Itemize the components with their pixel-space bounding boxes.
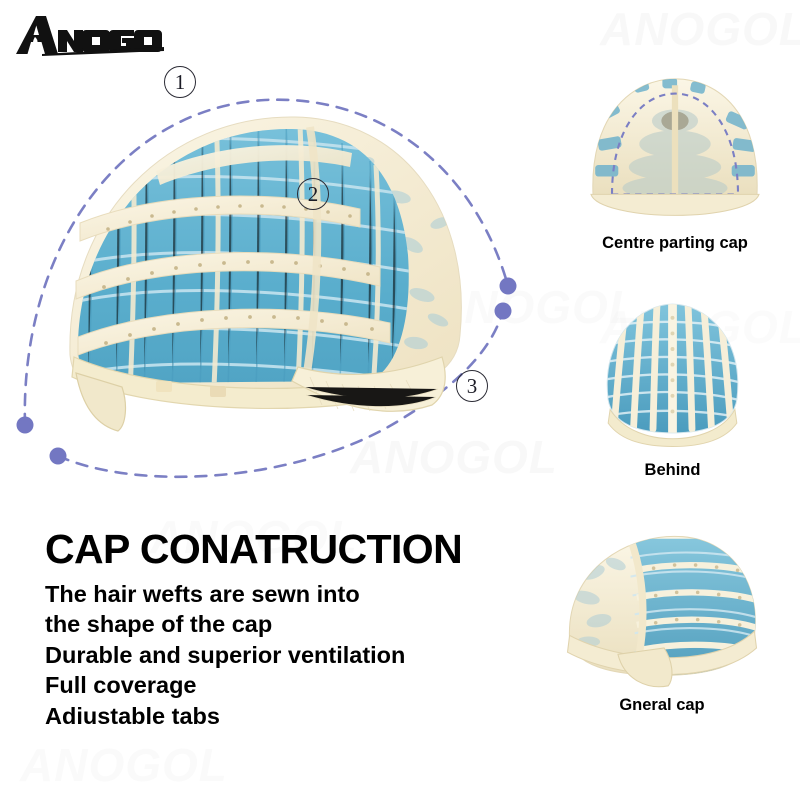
thumb-behind-cap-caption: Behind xyxy=(575,461,770,480)
cap-illustration-centre xyxy=(560,60,790,228)
feature-list: The hair wefts are sewn intothe shape of… xyxy=(45,579,515,732)
watermark-text: ANOGOL xyxy=(20,738,228,792)
arc-endpoint-dot-upper-right xyxy=(500,278,517,295)
thumb-general-cap-image xyxy=(548,522,776,695)
main-cap-image xyxy=(60,105,480,435)
callout-number-2: 2 xyxy=(297,178,329,210)
thumb-centre-parting-cap: Centre parting cap xyxy=(560,60,790,260)
anogol-logo xyxy=(12,14,164,56)
watermark-text: ANOGOL xyxy=(350,430,558,484)
feature-list-item: Adiustable tabs xyxy=(45,701,515,732)
thumb-general-cap: Gneral cap xyxy=(548,522,776,722)
arc-endpoint-dot-upper-left xyxy=(17,417,34,434)
feature-list-item: The hair wefts are sewn into xyxy=(45,579,515,610)
callout-number-3: 3 xyxy=(456,370,488,402)
feature-list-item: Full coverage xyxy=(45,670,515,701)
thumb-behind-cap: Behind xyxy=(575,282,770,487)
infographic-page: ANOGOLANOGOLANOGOLANOGOLANOGOLANOGOL xyxy=(0,0,800,800)
headline-block: CAP CONATRUCTION The hair wefts are sewn… xyxy=(45,528,515,731)
arc-endpoint-dot-lower-left xyxy=(50,448,67,465)
thumb-centre-parting-cap-image xyxy=(560,60,790,233)
thumb-behind-cap-image xyxy=(575,282,770,460)
watermark-text: ANOGOL xyxy=(600,2,800,56)
cap-illustration-general xyxy=(548,522,776,690)
thumb-centre-parting-cap-caption: Centre parting cap xyxy=(560,234,790,253)
feature-list-item: the shape of the cap xyxy=(45,609,515,640)
thumb-general-cap-caption: Gneral cap xyxy=(548,696,776,715)
feature-list-item: Durable and superior ventilation xyxy=(45,640,515,671)
callout-number-1: 1 xyxy=(164,66,196,98)
cap-illustration-behind xyxy=(575,282,770,455)
page-title: CAP CONATRUCTION xyxy=(45,528,515,571)
arc-endpoint-dot-lower-right xyxy=(495,303,512,320)
